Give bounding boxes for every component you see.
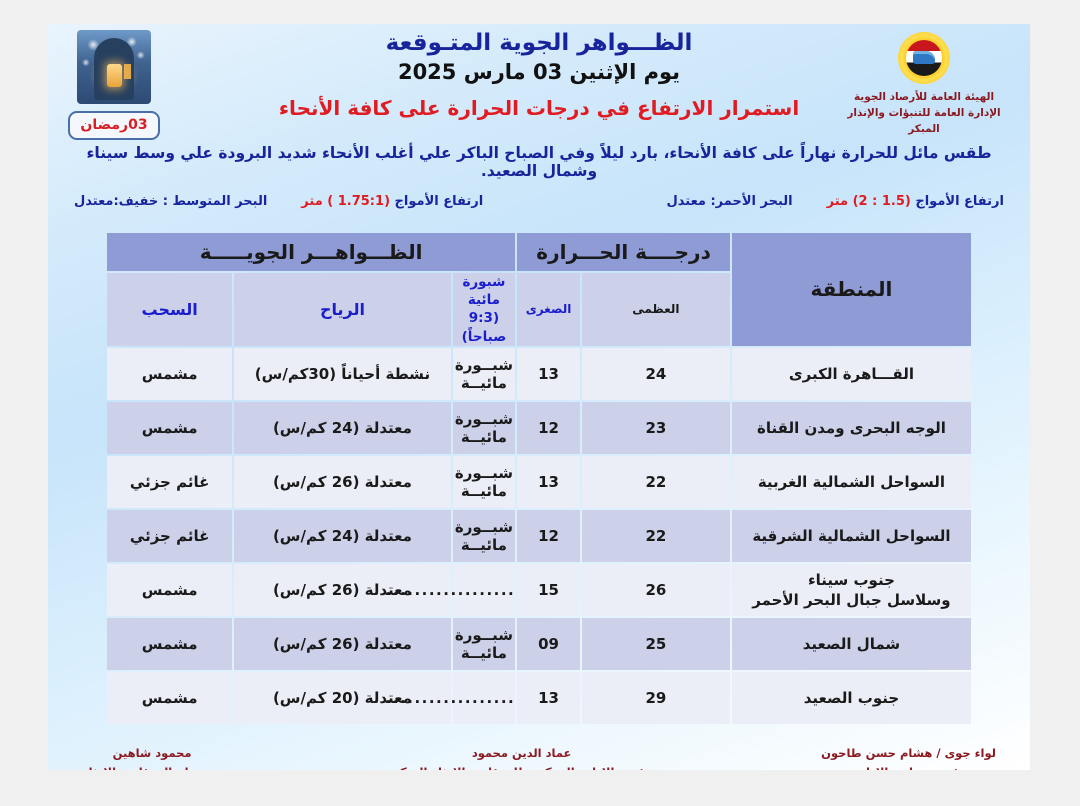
cell-region: شمال الصعيد — [732, 618, 971, 670]
cell-mist: شبــورة مائيــة — [453, 456, 516, 508]
forecast-table-body: القـــاهرة الكبرى2413شبــورة مائيــةنشطة… — [107, 348, 971, 724]
cell-region: جنوب الصعيد — [732, 672, 971, 724]
cell-wind: معتدلة (26 كم/س) — [234, 618, 450, 670]
col-group-temperature: درجــــة الحـــرارة — [517, 233, 730, 271]
cell-min-temp: 09 — [517, 618, 580, 670]
signature-forecast-director: محمود شاهين مديرعام التنبؤات والإنذار — [82, 744, 222, 770]
cell-wind: معتدلة (24 كم/س) — [234, 402, 450, 454]
cell-min-temp: 13 — [517, 672, 580, 724]
signature-name: عماد الدين محمود — [393, 744, 650, 764]
poster-header: 03رمضان الظـــواهر الجوية المتـوقعة يوم … — [48, 24, 1030, 142]
cell-region: جنوب سيناءوسلاسل جبال البحر الأحمر — [732, 564, 971, 616]
table-group-header-row: المنطقة درجــــة الحـــرارة الظـــواهـــ… — [107, 233, 971, 271]
cell-region-line1: جنوب سيناء — [808, 571, 895, 589]
col-header-region: المنطقة — [732, 233, 971, 346]
col-header-mist-line2: (9:3 صباحاً) — [462, 310, 507, 344]
signature-name: محمود شاهين — [82, 744, 222, 764]
table-row: شمال الصعيد2509شبــورة مائيــةمعتدلة (26… — [107, 618, 971, 670]
cell-min-temp: 13 — [517, 348, 580, 400]
forecast-table: المنطقة درجــــة الحـــرارة الظـــواهـــ… — [105, 231, 973, 726]
cell-clouds: غائم جزئي — [107, 510, 232, 562]
cell-wind: نشطة أحياناً (30كم/س) — [234, 348, 450, 400]
mediterranean-conditions: ارتفاع الأمواج (1.75:1 ) متر البحر المتو… — [74, 194, 483, 209]
table-row: جنوب الصعيد2913..................معتدلة … — [107, 672, 971, 724]
cell-max-temp: 25 — [582, 618, 730, 670]
signature-board-chairman: لواء جوى / هشام حسن طاحون رئيس مجلس الإد… — [821, 744, 996, 770]
col-group-phenomena: الظـــواهـــر الجويـــــة — [107, 233, 515, 271]
red-sea-waves-label: ارتفاع الأمواج — [915, 194, 1004, 209]
col-header-clouds: السحب — [107, 273, 232, 346]
red-sea-state: البحر الأحمر: معتدل — [666, 194, 792, 209]
red-sea-waves-value: (1.5 : 2) متر — [827, 194, 911, 209]
col-header-mist-line1: شبورة مائية — [462, 274, 505, 308]
cell-max-temp: 23 — [582, 402, 730, 454]
table-row: القـــاهرة الكبرى2413شبــورة مائيــةنشطة… — [107, 348, 971, 400]
cell-clouds: غائم جزئي — [107, 456, 232, 508]
col-header-max-temp: العظمى — [582, 273, 730, 346]
cell-clouds: مشمس — [107, 348, 232, 400]
cell-min-temp: 13 — [517, 456, 580, 508]
cell-region: القـــاهرة الكبرى — [732, 348, 971, 400]
signature-title: مديرعام التنبؤات والإنذار — [82, 763, 222, 770]
cell-min-temp: 15 — [517, 564, 580, 616]
table-row: جنوب سيناءوسلاسل جبال البحر الأحمر2615..… — [107, 564, 971, 616]
red-sea-waves: ارتفاع الأمواج (1.5 : 2) متر — [827, 194, 1004, 209]
cell-min-temp: 12 — [517, 510, 580, 562]
weather-summary-text: طقس مائل للحرارة نهاراً على كافة الأنحاء… — [48, 144, 1030, 180]
authority-block: الهيئة العامة للأرصاد الجوية الإدارة الع… — [834, 32, 1014, 137]
cell-mist: .................. — [453, 564, 516, 616]
cell-wind: معتدلة (26 كم/س) — [234, 456, 450, 508]
sea-conditions-row: ارتفاع الأمواج (1.5 : 2) متر البحر الأحم… — [48, 180, 1030, 209]
col-header-mist: شبورة مائية (9:3 صباحاً) — [453, 273, 516, 346]
cell-region: السواحل الشمالية الشرقية — [732, 510, 971, 562]
cell-mist: شبــورة مائيــة — [453, 510, 516, 562]
cell-max-temp: 24 — [582, 348, 730, 400]
cell-max-temp: 22 — [582, 456, 730, 508]
authority-name: الهيئة العامة للأرصاد الجوية — [834, 90, 1014, 106]
mediterranean-waves: ارتفاع الأمواج (1.75:1 ) متر — [301, 194, 483, 209]
cell-clouds: مشمس — [107, 618, 232, 670]
table-row: السواحل الشمالية الغربية2213شبــورة مائي… — [107, 456, 971, 508]
cell-min-temp: 12 — [517, 402, 580, 454]
mediterranean-state: البحر المتوسط : خفيف:معتدل — [74, 194, 267, 209]
authority-department: الإدارة العامة للتنبؤات والإنذار المبكر — [834, 106, 1014, 138]
cell-wind: معتدلة (24 كم/س) — [234, 510, 450, 562]
signature-title: رئيس الإدارة المركزية للتنبؤات والإنذار … — [393, 763, 650, 770]
signature-name: لواء جوى / هشام حسن طاحون — [821, 744, 996, 764]
red-sea-conditions: ارتفاع الأمواج (1.5 : 2) متر البحر الأحم… — [666, 194, 1004, 209]
mediterranean-waves-label: ارتفاع الأمواج — [395, 194, 484, 209]
col-header-min-temp: الصغرى — [517, 273, 580, 346]
table-row: الوجه البحرى ومدن القناة2312شبــورة مائي… — [107, 402, 971, 454]
cell-region: الوجه البحرى ومدن القناة — [732, 402, 971, 454]
signature-central-dept-head: عماد الدين محمود رئيس الإدارة المركزية ل… — [393, 744, 650, 770]
cell-max-temp: 26 — [582, 564, 730, 616]
cell-max-temp: 22 — [582, 510, 730, 562]
cell-clouds: مشمس — [107, 564, 232, 616]
cell-clouds: مشمس — [107, 672, 232, 724]
mediterranean-waves-value: (1.75:1 ) متر — [301, 194, 390, 209]
signature-footer: لواء جوى / هشام حسن طاحون رئيس مجلس الإد… — [48, 726, 1030, 770]
table-row: السواحل الشمالية الشرقية2212شبــورة مائي… — [107, 510, 971, 562]
cell-mist: .................. — [453, 672, 516, 724]
cell-mist: شبــورة مائيــة — [453, 402, 516, 454]
cell-max-temp: 29 — [582, 672, 730, 724]
cell-mist: شبــورة مائيــة — [453, 618, 516, 670]
egyptian-meteorological-authority-logo-icon — [898, 32, 950, 84]
cell-clouds: مشمس — [107, 402, 232, 454]
col-header-wind: الرياح — [234, 273, 450, 346]
cell-region: السواحل الشمالية الغربية — [732, 456, 971, 508]
signature-title: رئيس مجلس الإدارة — [821, 763, 996, 770]
forecast-poster: 03رمضان الظـــواهر الجوية المتـوقعة يوم … — [48, 24, 1030, 770]
cell-mist: شبــورة مائيــة — [453, 348, 516, 400]
cell-region-line2: وسلاسل جبال البحر الأحمر — [752, 591, 950, 609]
